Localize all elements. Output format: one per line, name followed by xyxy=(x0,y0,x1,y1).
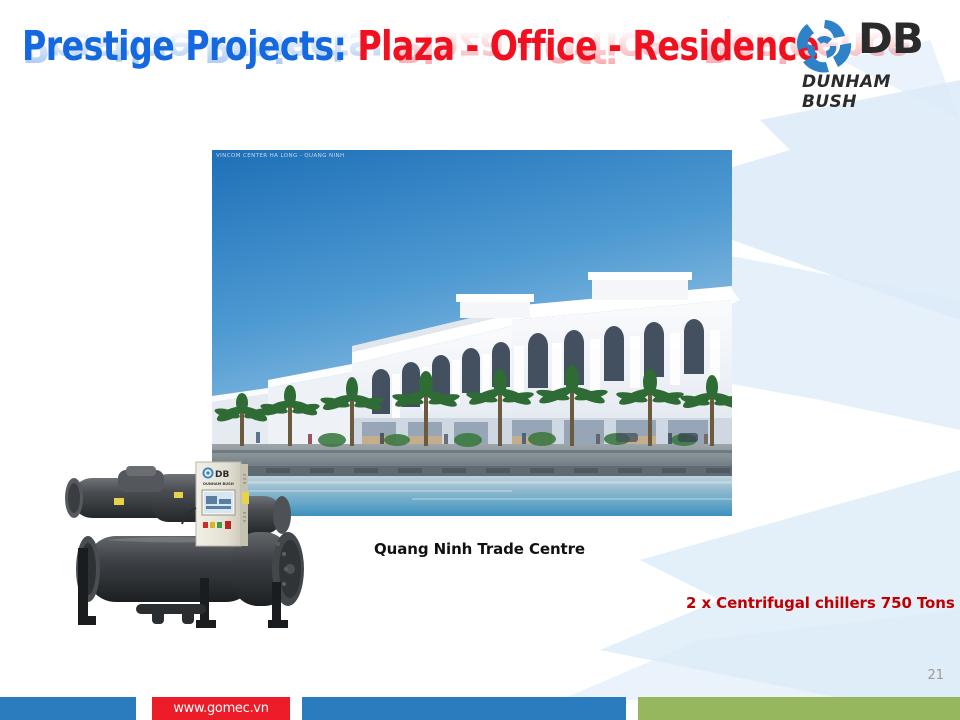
page-title-text: Prestige Projects: Plaza - Office - Resi… xyxy=(22,26,819,67)
dunham-bush-logo: DB DUNHAM BUSH xyxy=(792,14,944,94)
footer-bar-green-right xyxy=(638,697,960,720)
footer-url-text: www.gomec.vn xyxy=(152,701,290,716)
footer-bar-blue-left xyxy=(0,697,136,720)
footer-bar: www.gomec.vn xyxy=(0,697,960,720)
footer-bar-red-url[interactable]: www.gomec.vn xyxy=(152,697,290,720)
svg-text:DB: DB xyxy=(215,470,229,480)
chiller-photo: DB DUNHAM BUSH xyxy=(56,452,316,630)
db-swirl-icon xyxy=(794,16,856,74)
page-title-blue: Prestige Projects: xyxy=(22,22,346,70)
page-number: 21 xyxy=(927,668,944,683)
building-photo-embedded-caption: VINCOM CENTER HA LONG - QUANG NINH xyxy=(216,153,345,159)
db-abbrev: DB xyxy=(858,18,923,60)
footer-bar-blue-center xyxy=(302,697,626,720)
db-brand-name: DUNHAM BUSH xyxy=(802,72,944,112)
slide-canvas: Prestige Projects: Plaza - Office - Resi… xyxy=(0,0,960,720)
page-title-red: Plaza - Office - Residence xyxy=(357,22,819,70)
page-title: Prestige Projects: Plaza - Office - Resi… xyxy=(22,26,907,67)
project-caption: Quang Ninh Trade Centre xyxy=(374,540,585,558)
equipment-caption: 2 x Centrifugal chillers 750 Tons xyxy=(686,594,955,612)
svg-text:DUNHAM BUSH: DUNHAM BUSH xyxy=(203,482,234,486)
chiller-photo-artwork: DB DUNHAM BUSH xyxy=(56,452,316,630)
